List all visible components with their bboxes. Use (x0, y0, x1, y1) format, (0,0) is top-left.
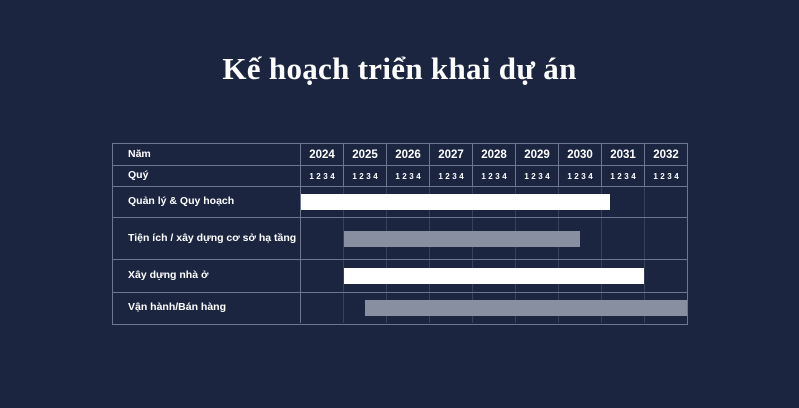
gridline (602, 218, 645, 259)
table-row: Vận hành/Bán hàng (113, 293, 687, 323)
page-title: Kế hoạch triển khai dự án (0, 52, 799, 86)
table-header-quarter-row: Quý 123412341234123412341234123412341234 (113, 166, 687, 187)
quarter-tick-label: 3 (495, 172, 499, 181)
quarter-tick-label: 2 (488, 172, 492, 181)
table-row: Tiện ích / xây dựng cơ sở hạ tầng (113, 218, 687, 260)
quarter-tick-label: 1 (438, 172, 442, 181)
gridline (645, 187, 687, 217)
quarter-tick-label: 3 (581, 172, 585, 181)
quarter-header-track: 123412341234123412341234123412341234 (301, 166, 687, 186)
quarter-tick-label: 4 (459, 172, 463, 181)
header-quarter-label: Quý (113, 166, 301, 186)
year-header-cell: 2028 (473, 144, 516, 165)
gantt-bar-1 (344, 231, 580, 247)
task-track-1 (301, 218, 687, 259)
year-header-cells: 202420252026202720282029203020312032 (301, 144, 687, 165)
task-label-0: Quản lý & Quy hoạch (113, 187, 301, 217)
quarter-tick-label: 3 (667, 172, 671, 181)
year-header-cell: 2029 (516, 144, 559, 165)
quarter-header-cell: 1234 (602, 166, 645, 186)
quarter-tick-label: 3 (409, 172, 413, 181)
quarter-tick-label: 4 (330, 172, 334, 181)
quarter-header-cell: 1234 (387, 166, 430, 186)
quarter-header-cell: 1234 (344, 166, 387, 186)
quarter-tick-label: 2 (359, 172, 363, 181)
gantt-bar-0 (301, 194, 610, 210)
quarter-tick-label: 1 (524, 172, 528, 181)
year-header-track: 202420252026202720282029203020312032 (301, 144, 687, 165)
quarter-header-cell: 1234 (430, 166, 473, 186)
quarter-tick-label: 4 (545, 172, 549, 181)
task-track-2 (301, 260, 687, 292)
quarter-tick-label: 2 (660, 172, 664, 181)
quarter-header-cells: 123412341234123412341234123412341234 (301, 166, 687, 186)
quarter-tick-label: 1 (309, 172, 313, 181)
quarter-tick-label: 2 (402, 172, 406, 181)
quarter-tick-label: 4 (588, 172, 592, 181)
gridline (301, 293, 344, 323)
gridline (301, 218, 344, 259)
year-header-cell: 2024 (301, 144, 344, 165)
quarter-tick-label: 2 (617, 172, 621, 181)
gantt-bar-2 (344, 268, 644, 284)
slide-canvas: Kế hoạch triển khai dự án Năm 2024202520… (0, 0, 799, 408)
gantt-bar-3 (365, 300, 687, 316)
year-header-cell: 2030 (559, 144, 602, 165)
table-header-year-row: Năm 202420252026202720282029203020312032 (113, 144, 687, 166)
quarter-tick-label: 4 (631, 172, 635, 181)
year-header-cell: 2025 (344, 144, 387, 165)
quarter-tick-label: 3 (452, 172, 456, 181)
quarter-tick-label: 3 (323, 172, 327, 181)
quarter-header-cell: 1234 (473, 166, 516, 186)
gantt-chart-table: Năm 202420252026202720282029203020312032… (112, 143, 688, 325)
quarter-tick-label: 1 (352, 172, 356, 181)
task-label-2: Xây dựng nhà ở (113, 260, 301, 292)
task-label-3: Vận hành/Bán hàng (113, 293, 301, 323)
quarter-tick-label: 1 (395, 172, 399, 181)
quarter-tick-label: 1 (567, 172, 571, 181)
year-header-cell: 2032 (645, 144, 687, 165)
quarter-tick-label: 4 (373, 172, 377, 181)
quarter-header-cell: 1234 (516, 166, 559, 186)
quarter-tick-label: 2 (316, 172, 320, 181)
quarter-tick-label: 1 (610, 172, 614, 181)
header-year-label: Năm (113, 144, 301, 165)
task-track-3 (301, 293, 687, 323)
quarter-tick-label: 1 (653, 172, 657, 181)
gridline (301, 260, 344, 292)
quarter-tick-label: 2 (531, 172, 535, 181)
quarter-tick-label: 4 (502, 172, 506, 181)
quarter-header-cell: 1234 (301, 166, 344, 186)
task-track-0 (301, 187, 687, 217)
task-label-1: Tiện ích / xây dựng cơ sở hạ tầng (113, 218, 301, 259)
year-header-cell: 2027 (430, 144, 473, 165)
quarter-tick-label: 2 (574, 172, 578, 181)
quarter-tick-label: 3 (538, 172, 542, 181)
gridline (645, 260, 687, 292)
gridline (645, 218, 687, 259)
quarter-tick-label: 3 (366, 172, 370, 181)
year-header-cell: 2031 (602, 144, 645, 165)
quarter-tick-label: 3 (624, 172, 628, 181)
quarter-tick-label: 1 (481, 172, 485, 181)
year-header-cell: 2026 (387, 144, 430, 165)
quarter-tick-label: 2 (445, 172, 449, 181)
table-row: Xây dựng nhà ở (113, 260, 687, 293)
quarter-tick-label: 4 (416, 172, 420, 181)
quarter-tick-label: 4 (674, 172, 678, 181)
quarter-header-cell: 1234 (645, 166, 687, 186)
quarter-header-cell: 1234 (559, 166, 602, 186)
table-row: Quản lý & Quy hoạch (113, 187, 687, 218)
